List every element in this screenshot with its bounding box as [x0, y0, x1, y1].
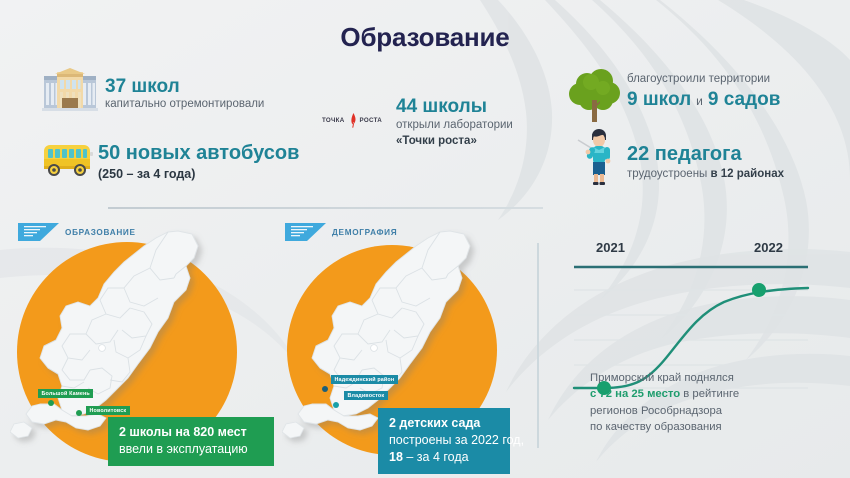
city-label-bolshoy-kamen: Большой Камень: [38, 389, 93, 398]
stat-schools-renovated-label: капитально отремонтировали: [105, 97, 264, 113]
city-label-novolitovsk: Новолитовск: [86, 406, 130, 415]
stat-schools-renovated: 37 школ капитально отремонтировали: [105, 76, 264, 113]
tree-icon: [567, 66, 623, 129]
stat-new-buses-value: 50 новых автобусов: [98, 142, 299, 164]
panel-education-map: ОБРАЗОВАНИЕ: [18, 222, 136, 242]
chart-note-line3: регионов Рособрнадзора: [590, 405, 722, 417]
city-pin-nadezhdinsky: [322, 386, 328, 392]
stat-territories-value-a: 9 школ: [627, 89, 691, 110]
stat-labs-opened-value: 44 школы: [396, 96, 513, 117]
chart-point-2022: [752, 283, 766, 297]
chart-note-line1: Приморский край поднялся: [590, 372, 734, 384]
tochka-rosta-logo: ТОЧКА РОСТА: [322, 113, 382, 128]
education-caption-line1: 2 школы на 820 мест: [119, 424, 263, 441]
city-pin-novolitovsk: [76, 410, 82, 416]
panel-demography-map: ДЕМОГРАФИЯ: [285, 222, 397, 242]
stat-territories-value-b: 9 садов: [708, 89, 781, 110]
flag-education-label: ОБРАЗОВАНИЕ: [65, 228, 136, 237]
education-caption-line2: ввели в эксплуатацию: [119, 441, 263, 458]
city-label-nadezhdinsky: Надеждинский район: [331, 375, 398, 384]
city-label-vladivostok: Владивосток: [344, 391, 388, 400]
demography-caption: 2 детских сада построены за 2022 год, 18…: [378, 408, 510, 474]
demography-caption-line3-bold: 18: [389, 450, 403, 464]
stat-teachers-label-bold: в 12 районах: [711, 168, 785, 180]
chart-note-line2: в рейтинге: [680, 388, 739, 400]
stat-territories-improved: благоустроили территории 9 школ и 9 садо…: [627, 72, 780, 110]
city-pin-bolshoy-kamen: [48, 400, 54, 406]
demography-caption-line2: построены за 2022 год,: [389, 432, 499, 449]
stat-territories-conj: и: [696, 94, 703, 108]
school-bus-icon: [40, 140, 98, 185]
stat-new-buses-label: (250 – за 4 года): [98, 166, 299, 183]
stat-teachers-label-plain: трудоустроены: [627, 168, 711, 180]
stat-new-buses: 50 новых автобусов (250 – за 4 года): [98, 142, 299, 183]
chart-note-line4: по качеству образования: [590, 421, 722, 433]
flag-shape-icon: [18, 222, 59, 242]
flag-demography: ДЕМОГРАФИЯ: [285, 222, 397, 242]
stat-teachers-value: 22 педагога: [627, 143, 784, 165]
chart-note: Приморский край поднялся с 72 на 25 мест…: [590, 370, 840, 436]
stat-territories-pre: благоустроили территории: [627, 72, 780, 88]
teacher-icon: [575, 126, 623, 193]
flag-shape-icon: [285, 222, 326, 242]
ranking-line-chart: 2021 2022: [556, 240, 841, 470]
flag-education: ОБРАЗОВАНИЕ: [18, 222, 136, 242]
chart-xtick-2021: 2021: [596, 240, 625, 255]
logo-word-left: ТОЧКА: [322, 117, 345, 124]
page-title: Образование: [0, 22, 850, 53]
demography-caption-line3-rest: – за 4 года: [403, 450, 469, 464]
demography-caption-line3: 18 – за 4 года: [389, 449, 499, 466]
stat-labs-opened: 44 школы открыли лаборатории «Точки рост…: [396, 96, 513, 149]
flag-demography-label: ДЕМОГРАФИЯ: [332, 228, 397, 237]
flame-mark-icon: [347, 113, 358, 128]
stat-labs-opened-label: открыли лаборатории: [396, 118, 513, 134]
school-building-icon: [42, 68, 98, 119]
demography-caption-line1: 2 детских сада: [389, 415, 499, 432]
stat-teachers-employed: 22 педагога трудоустроены в 12 районах: [627, 143, 784, 183]
stat-schools-renovated-value: 37 школ: [105, 76, 264, 97]
education-caption: 2 школы на 820 мест ввели в эксплуатацию: [108, 417, 274, 466]
logo-word-right: РОСТА: [360, 117, 383, 124]
horizontal-divider: [108, 207, 543, 209]
vertical-divider: [537, 243, 539, 448]
stat-labs-opened-label2: «Точки роста»: [396, 134, 513, 150]
chart-xtick-2022: 2022: [754, 240, 783, 255]
chart-note-highlight: с 72 на 25 место: [590, 388, 680, 400]
city-pin-vladivostok: [333, 402, 339, 408]
